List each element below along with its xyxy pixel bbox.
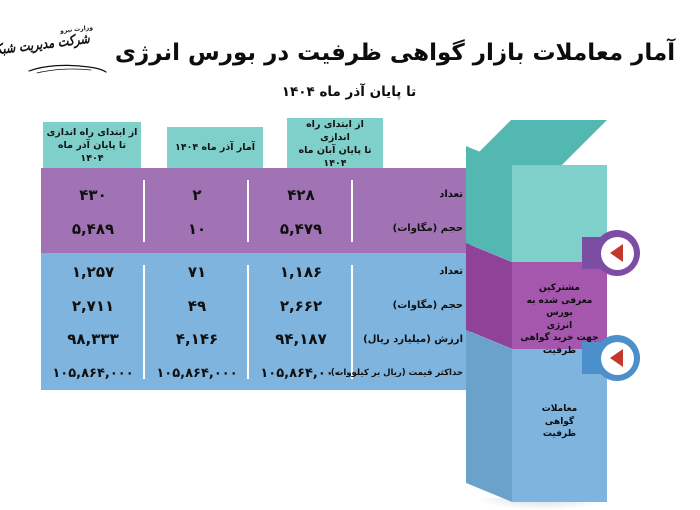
label-line: گواهی	[513, 416, 608, 429]
cell-cumulative-aban: ۲,۶۶۲	[250, 297, 354, 315]
cell-cumulative-aban: ۹۴,۱۸۷	[250, 330, 354, 348]
cell-azar-month: ۲	[146, 186, 250, 204]
column-header-line: از ابتدای راه اندازی	[48, 126, 139, 139]
label-line: معرفی شده به بورس	[513, 295, 608, 320]
table-row: حداکثر قیمت (ریال بر کیلووات) ۱۰۵,۸۶۴,۰۰…	[42, 360, 472, 386]
cell-cumulative-aban: ۴۲۸	[250, 186, 354, 204]
badge-inner-circle	[602, 342, 635, 375]
column-header-azar-month: آمار آذر ماه ۱۴۰۴	[168, 127, 264, 168]
table-row: حجم (مگاوات) ۵,۴۷۹ ۱۰ ۵,۴۸۹	[42, 216, 472, 242]
page-title: آمار معاملات بازار گواهی ظرفیت در بورس ا…	[116, 40, 676, 66]
transactions-section-label: معاملات گواهی ظرفیت	[513, 403, 608, 441]
label-line: معاملات	[513, 403, 608, 416]
left-arrow-icon	[611, 244, 624, 262]
left-arrow-icon	[611, 349, 624, 367]
cell-cumulative-aban: ۱۰۵,۸۶۴,۰۰۰	[250, 366, 354, 381]
subscribers-data-panel: تعداد ۴۲۸ ۲ ۴۳۰ حجم (مگاوات) ۵,۴۷۹ ۱۰ ۵,…	[42, 168, 472, 253]
cell-cumulative-azar: ۴۳۰	[42, 186, 146, 204]
column-header-line: آمار آذر ماه ۱۴۰۴	[176, 141, 256, 154]
cell-cumulative-aban: ۱,۱۸۶	[250, 263, 354, 281]
header: وزارت نیرو شرکت مدیریت شبکه برق ایران آم…	[0, 0, 700, 110]
cell-cumulative-azar: ۱۰۵,۸۶۴,۰۰۰	[42, 366, 146, 381]
cell-cumulative-azar: ۵,۴۸۹	[42, 220, 146, 238]
cell-cumulative-azar: ۹۸,۳۳۳	[42, 330, 146, 348]
column-header-cumulative-aban: از ابتدای راه اندازی تا پایان آبان ماه ۱…	[288, 118, 384, 170]
company-logo: وزارت نیرو شرکت مدیریت شبکه برق ایران	[24, 22, 110, 84]
title-row: وزارت نیرو شرکت مدیریت شبکه برق ایران آم…	[0, 22, 700, 84]
logo-swash-icon	[28, 62, 108, 74]
column-header-line: تا پایان آذر ماه ۱۴۰۴	[47, 139, 139, 165]
cell-cumulative-azar: ۱,۲۵۷	[42, 263, 146, 281]
cell-azar-month: ۴,۱۴۶	[146, 330, 250, 348]
table-row: ارزش (میلیارد ریال) ۹۴,۱۸۷ ۴,۱۴۶ ۹۸,۳۳۳	[42, 327, 472, 353]
three-d-legend-block: مشترکین معرفی شده به بورس انرژی جهت خرید…	[455, 110, 655, 440]
table-row: تعداد ۱,۱۸۶ ۷۱ ۱,۲۵۷	[42, 259, 472, 285]
transactions-callout-badge[interactable]	[595, 335, 641, 381]
cell-cumulative-azar: ۲,۷۱۱	[42, 297, 146, 315]
cell-azar-month: ۱۰۵,۸۶۴,۰۰۰	[146, 366, 250, 381]
label-line: مشترکین	[513, 282, 608, 295]
label-line: ظرفیت	[513, 428, 608, 441]
infographic-root: وزارت نیرو شرکت مدیریت شبکه برق ایران آم…	[0, 0, 700, 494]
block-side-face-teal	[467, 146, 513, 262]
label-line: انرژی	[513, 320, 608, 333]
subscribers-callout-badge[interactable]	[595, 230, 641, 276]
table-row: حجم (مگاوات) ۲,۶۶۲ ۴۹ ۲,۷۱۱	[42, 293, 472, 319]
column-headers: از ابتدای راه اندازی تا پایان آذر ماه ۱۴…	[42, 118, 472, 172]
badge-inner-circle	[602, 237, 635, 270]
page-subtitle: تا پایان آذر ماه ۱۴۰۴	[0, 84, 700, 100]
cell-azar-month: ۷۱	[146, 263, 250, 281]
block-side-face-blue	[467, 330, 513, 502]
cell-azar-month: ۴۹	[146, 297, 250, 315]
table-row: تعداد ۴۲۸ ۲ ۴۳۰	[42, 182, 472, 208]
column-header-cumulative-azar: از ابتدای راه اندازی تا پایان آذر ماه ۱۴…	[44, 122, 142, 168]
transactions-data-panel: تعداد ۱,۱۸۶ ۷۱ ۱,۲۵۷ حجم (مگاوات) ۲,۶۶۲ …	[42, 253, 472, 390]
cell-azar-month: ۱۰	[146, 220, 250, 238]
column-header-line: تا پایان آبان ماه	[300, 144, 373, 157]
column-header-line: از ابتدای راه اندازی	[291, 118, 381, 144]
subscribers-rows: تعداد ۴۲۸ ۲ ۴۳۰ حجم (مگاوات) ۵,۴۷۹ ۱۰ ۵,…	[42, 168, 472, 253]
cell-cumulative-aban: ۵,۴۷۹	[250, 220, 354, 238]
transactions-rows: تعداد ۱,۱۸۶ ۷۱ ۱,۲۵۷ حجم (مگاوات) ۲,۶۶۲ …	[42, 253, 472, 390]
company-name: شرکت مدیریت شبکه برق ایران	[0, 31, 92, 65]
